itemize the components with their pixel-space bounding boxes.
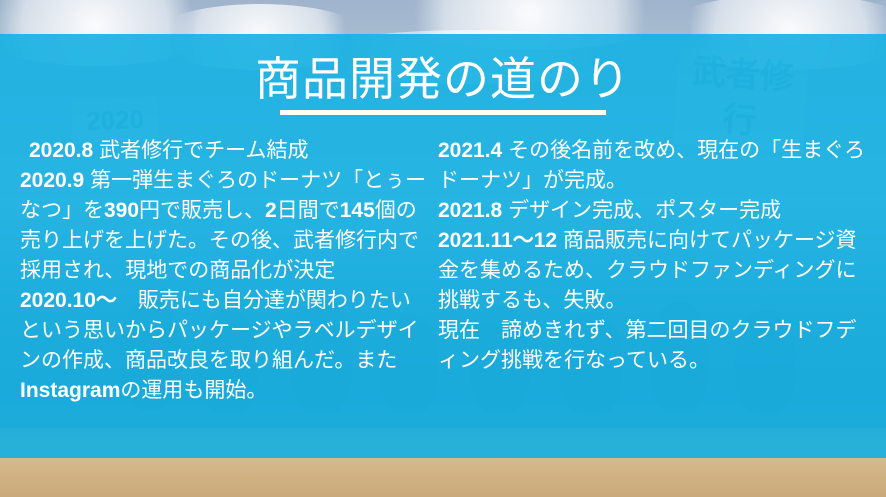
entry-body-text: デザイン完成、ポスター完成: [508, 199, 781, 222]
timeline-entry: 2020.8 武者修行でチーム結成: [20, 136, 430, 166]
timeline-entry: 2021.4 その後名前を改め、現在の「生まぐろドーナツ」が完成。: [438, 136, 870, 196]
slide-content: 商品開発の道のり 2020.8 武者修行でチーム結成 2020.9 第一弾生まぐ…: [0, 34, 886, 458]
entry-body-text: 円で販売し、: [139, 199, 265, 222]
entry-date: 2021.4: [438, 139, 502, 162]
entry-body-text: 日間で: [277, 199, 340, 222]
timeline-entry: 2021.11〜12 商品販売に向けてパッケージ資金を集めるため、クラウドファン…: [438, 226, 870, 316]
entry-body-text: の運用も開始。: [120, 379, 267, 402]
right-column: 2021.4 その後名前を改め、現在の「生まぐろドーナツ」が完成。 2021.8…: [430, 136, 870, 376]
entry-date: 2020.10〜: [20, 289, 117, 312]
entry-date: 2021.11〜12: [438, 229, 557, 252]
entry-body-text: 武者修行でチーム結成: [99, 139, 308, 162]
entry-date: 2020.9: [20, 169, 84, 192]
timeline-entry: 2020.9 第一弾生まぐろのドーナツ「とぅーなつ」を390円で販売し、2日間で…: [20, 166, 430, 286]
title-underline-rule: [280, 110, 606, 115]
page-title: 商品開発の道のり: [0, 52, 886, 106]
body-columns: 2020.8 武者修行でチーム結成 2020.9 第一弾生まぐろのドーナツ「とぅ…: [0, 136, 886, 406]
entry-emphasis: 390: [104, 199, 139, 222]
timeline-entry: 2021.8 デザイン完成、ポスター完成: [438, 196, 870, 226]
entry-body-text: 諦めきれず、第二回目のクラウドフディング挑戦を行なっている。: [438, 319, 857, 372]
timeline-entry: 2020.10〜 販売にも自分達が関わりたいという思いからパッケージやラベルデザ…: [20, 286, 430, 406]
entry-date: 2020.8: [29, 139, 93, 162]
slide-root: 2020 武者修行 商品開発の道のり 2020.8 武者修行でチーム結成 202…: [0, 0, 886, 497]
entry-date: 2021.8: [438, 199, 502, 222]
entry-emphasis: 145: [340, 199, 375, 222]
timeline-entry: 現在 諦めきれず、第二回目のクラウドフディング挑戦を行なっている。: [438, 316, 870, 376]
entry-emphasis: 2: [265, 199, 277, 222]
entry-emphasis: Instagram: [20, 379, 120, 402]
entry-date: 現在: [438, 319, 480, 342]
left-column: 2020.8 武者修行でチーム結成 2020.9 第一弾生まぐろのドーナツ「とぅ…: [0, 136, 430, 406]
